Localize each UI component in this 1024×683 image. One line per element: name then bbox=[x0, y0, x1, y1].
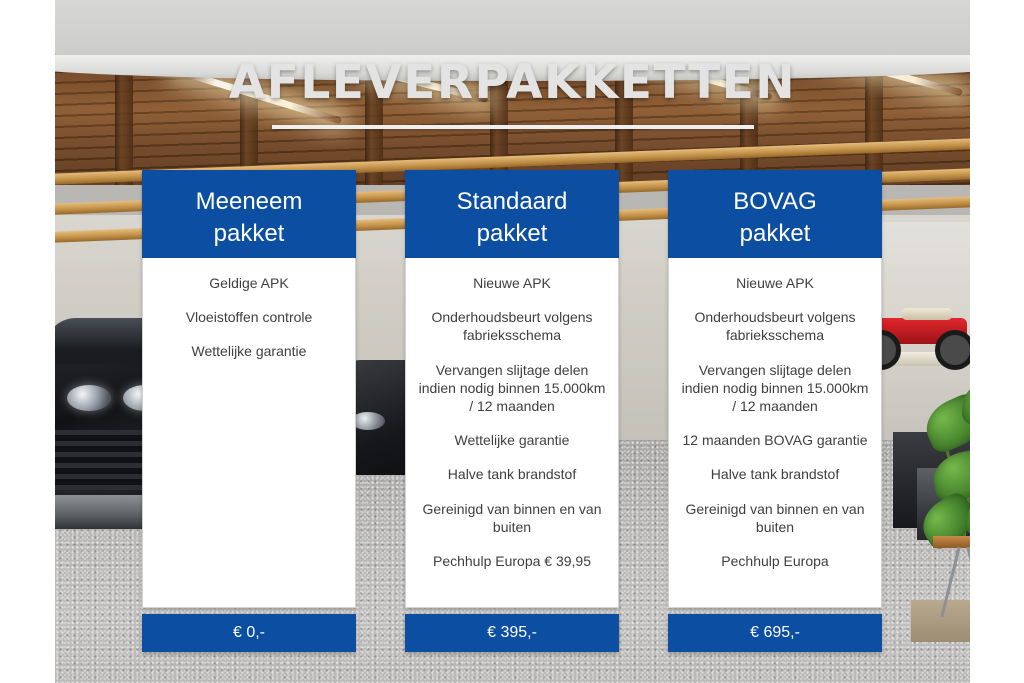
feature-item: Geldige APK bbox=[155, 274, 343, 292]
package-card-bovag[interactable]: BOVAG pakket Nieuwe APK Onderhoudsbeurt … bbox=[668, 170, 882, 652]
card-title-line2: pakket bbox=[415, 218, 609, 250]
card-price-meeneem[interactable]: € 0,- bbox=[142, 614, 356, 652]
card-header-standaard: Standaard pakket bbox=[405, 170, 619, 258]
feature-item: Wettelijke garantie bbox=[418, 431, 606, 449]
feature-item: Vervangen slijtage delen indien nodig bi… bbox=[418, 361, 606, 416]
feature-item: Vloeistoffen controle bbox=[155, 308, 343, 326]
feature-item: Onderhoudsbeurt volgens fabrieksschema bbox=[681, 308, 869, 344]
feature-item: Pechhulp Europa € 39,95 bbox=[418, 552, 606, 570]
package-card-standaard[interactable]: Standaard pakket Nieuwe APK Onderhoudsbe… bbox=[405, 170, 619, 652]
feature-item: Nieuwe APK bbox=[418, 274, 606, 292]
card-price-bovag[interactable]: € 695,- bbox=[668, 614, 882, 652]
card-title-line1: Meeneem bbox=[152, 186, 346, 218]
card-header-bovag: BOVAG pakket bbox=[668, 170, 882, 258]
card-title-line1: Standaard bbox=[415, 186, 609, 218]
feature-item: Wettelijke garantie bbox=[155, 342, 343, 360]
feature-item: 12 maanden BOVAG garantie bbox=[681, 431, 869, 449]
card-body-meeneem: Geldige APK Vloeistoffen controle Wettel… bbox=[142, 258, 356, 608]
feature-item: Halve tank brandstof bbox=[681, 465, 869, 483]
card-header-meeneem: Meeneem pakket bbox=[142, 170, 356, 258]
feature-item: Nieuwe APK bbox=[681, 274, 869, 292]
package-card-group: Meeneem pakket Geldige APK Vloeistoffen … bbox=[0, 0, 1024, 683]
right-matte bbox=[970, 0, 1024, 683]
feature-item: Vervangen slijtage delen indien nodig bi… bbox=[681, 361, 869, 416]
card-body-standaard: Nieuwe APK Onderhoudsbeurt volgens fabri… bbox=[405, 258, 619, 608]
feature-item: Halve tank brandstof bbox=[418, 465, 606, 483]
package-card-meeneem[interactable]: Meeneem pakket Geldige APK Vloeistoffen … bbox=[142, 170, 356, 652]
card-title-line2: pakket bbox=[678, 218, 872, 250]
card-body-bovag: Nieuwe APK Onderhoudsbeurt volgens fabri… bbox=[668, 258, 882, 608]
feature-item: Onderhoudsbeurt volgens fabrieksschema bbox=[418, 308, 606, 344]
slide-canvas: elf bbox=[0, 0, 1024, 683]
card-price-standaard[interactable]: € 395,- bbox=[405, 614, 619, 652]
card-title-line1: BOVAG bbox=[678, 186, 872, 218]
feature-item: Gereinigd van binnen en van buiten bbox=[418, 500, 606, 536]
feature-item: Gereinigd van binnen en van buiten bbox=[681, 500, 869, 536]
left-matte bbox=[0, 0, 55, 683]
feature-item: Pechhulp Europa bbox=[681, 552, 869, 570]
card-title-line2: pakket bbox=[152, 218, 346, 250]
